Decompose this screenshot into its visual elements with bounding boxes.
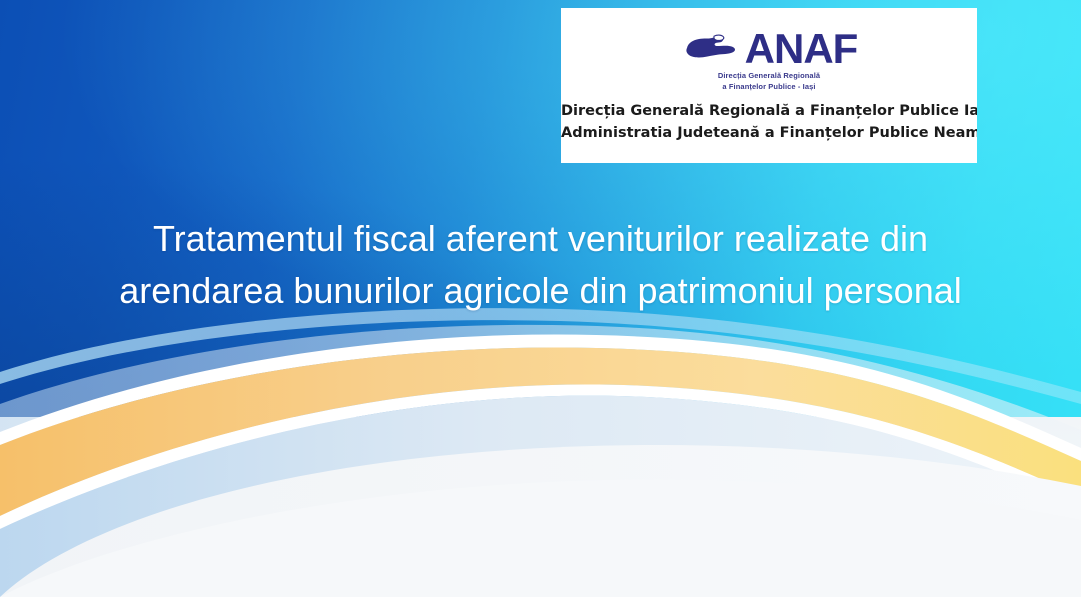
romania-map-icon <box>681 32 739 66</box>
slide-title-line-1: Tratamentul fiscal aferent veniturilor r… <box>0 213 1081 265</box>
presentation-slide: ANAF Direcția Generală Regională a Finan… <box>0 0 1081 597</box>
institution-name-block: Direcția Generală Regională a Finanțelor… <box>561 100 977 144</box>
anaf-wordmark: ANAF <box>745 28 858 70</box>
slide-title: Tratamentul fiscal aferent veniturilor r… <box>0 213 1081 317</box>
anaf-logo-subtitle: Direcția Generală Regională a Finanțelor… <box>561 70 977 92</box>
slide-title-line-2: arendarea bunurilor agricole din patrimo… <box>0 265 1081 317</box>
anaf-logo-subtitle-line-1: Direcția Generală Regională <box>561 70 977 81</box>
institution-line-1: Direcția Generală Regională a Finanțelor… <box>561 100 977 122</box>
anaf-logo-subtitle-line-2: a Finanțelor Publice - Iași <box>561 81 977 92</box>
anaf-logo-card: ANAF Direcția Generală Regională a Finan… <box>561 8 977 163</box>
institution-line-2: Administratia Judeteană a Finanțelor Pub… <box>561 122 977 144</box>
